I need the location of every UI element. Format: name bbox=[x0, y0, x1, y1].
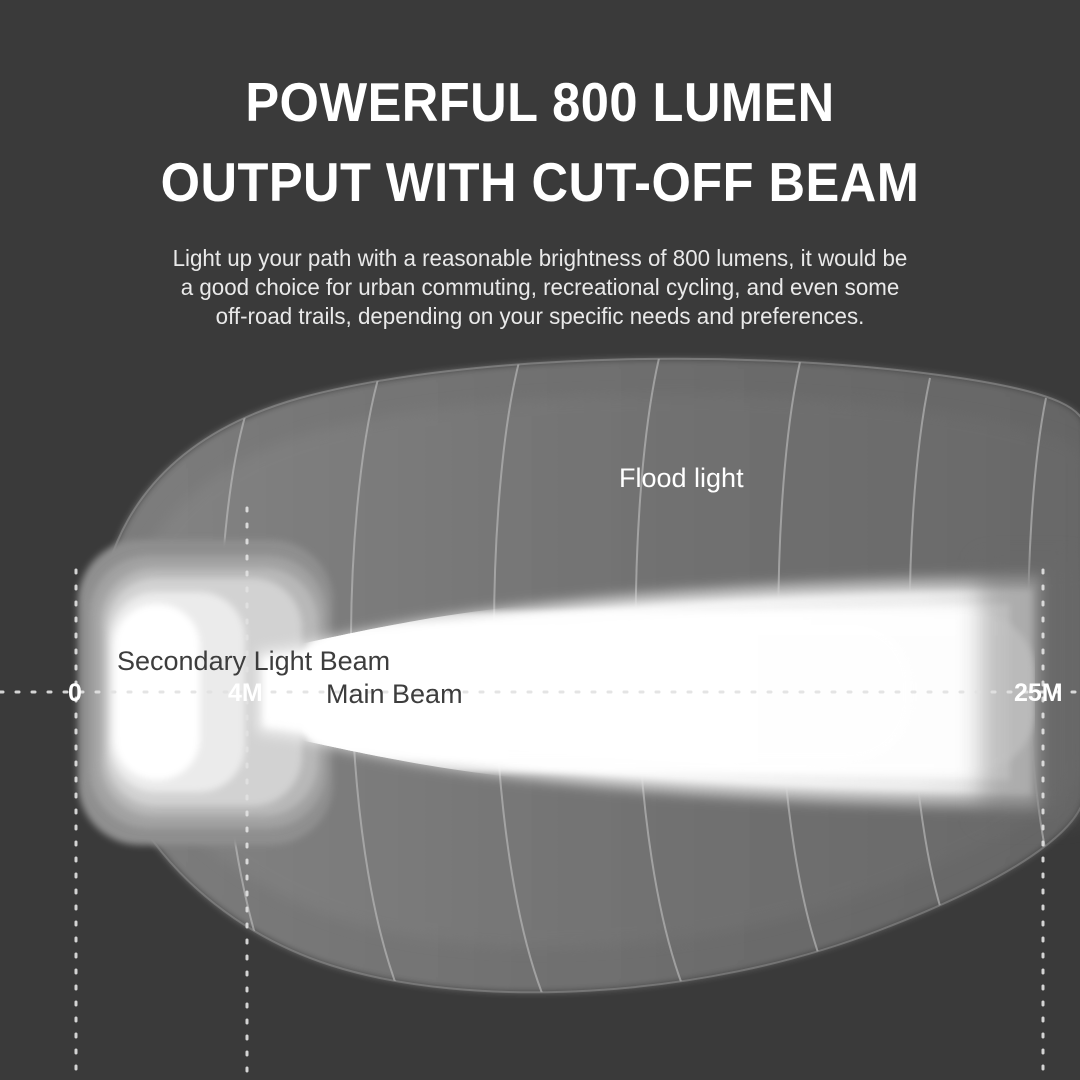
flood-light-label: Flood light bbox=[619, 463, 744, 494]
page-title: POWERFUL 800 LUMEN OUTPUT WITH CUT-OFF B… bbox=[43, 0, 1037, 222]
distance-marker-4m: 4M bbox=[228, 679, 263, 708]
secondary-light-beam-label: Secondary Light Beam bbox=[117, 646, 390, 677]
header-block: POWERFUL 800 LUMEN OUTPUT WITH CUT-OFF B… bbox=[0, 0, 1080, 331]
main-beam-label: Main Beam bbox=[326, 679, 463, 710]
distance-marker-25m: 25M bbox=[1014, 679, 1063, 708]
page-subtitle: Light up your path with a reasonable bri… bbox=[165, 222, 916, 331]
distance-marker-0m: 0 bbox=[68, 679, 82, 708]
product-infographic: Flood light Secondary Light Beam Main Be… bbox=[0, 0, 1080, 1080]
